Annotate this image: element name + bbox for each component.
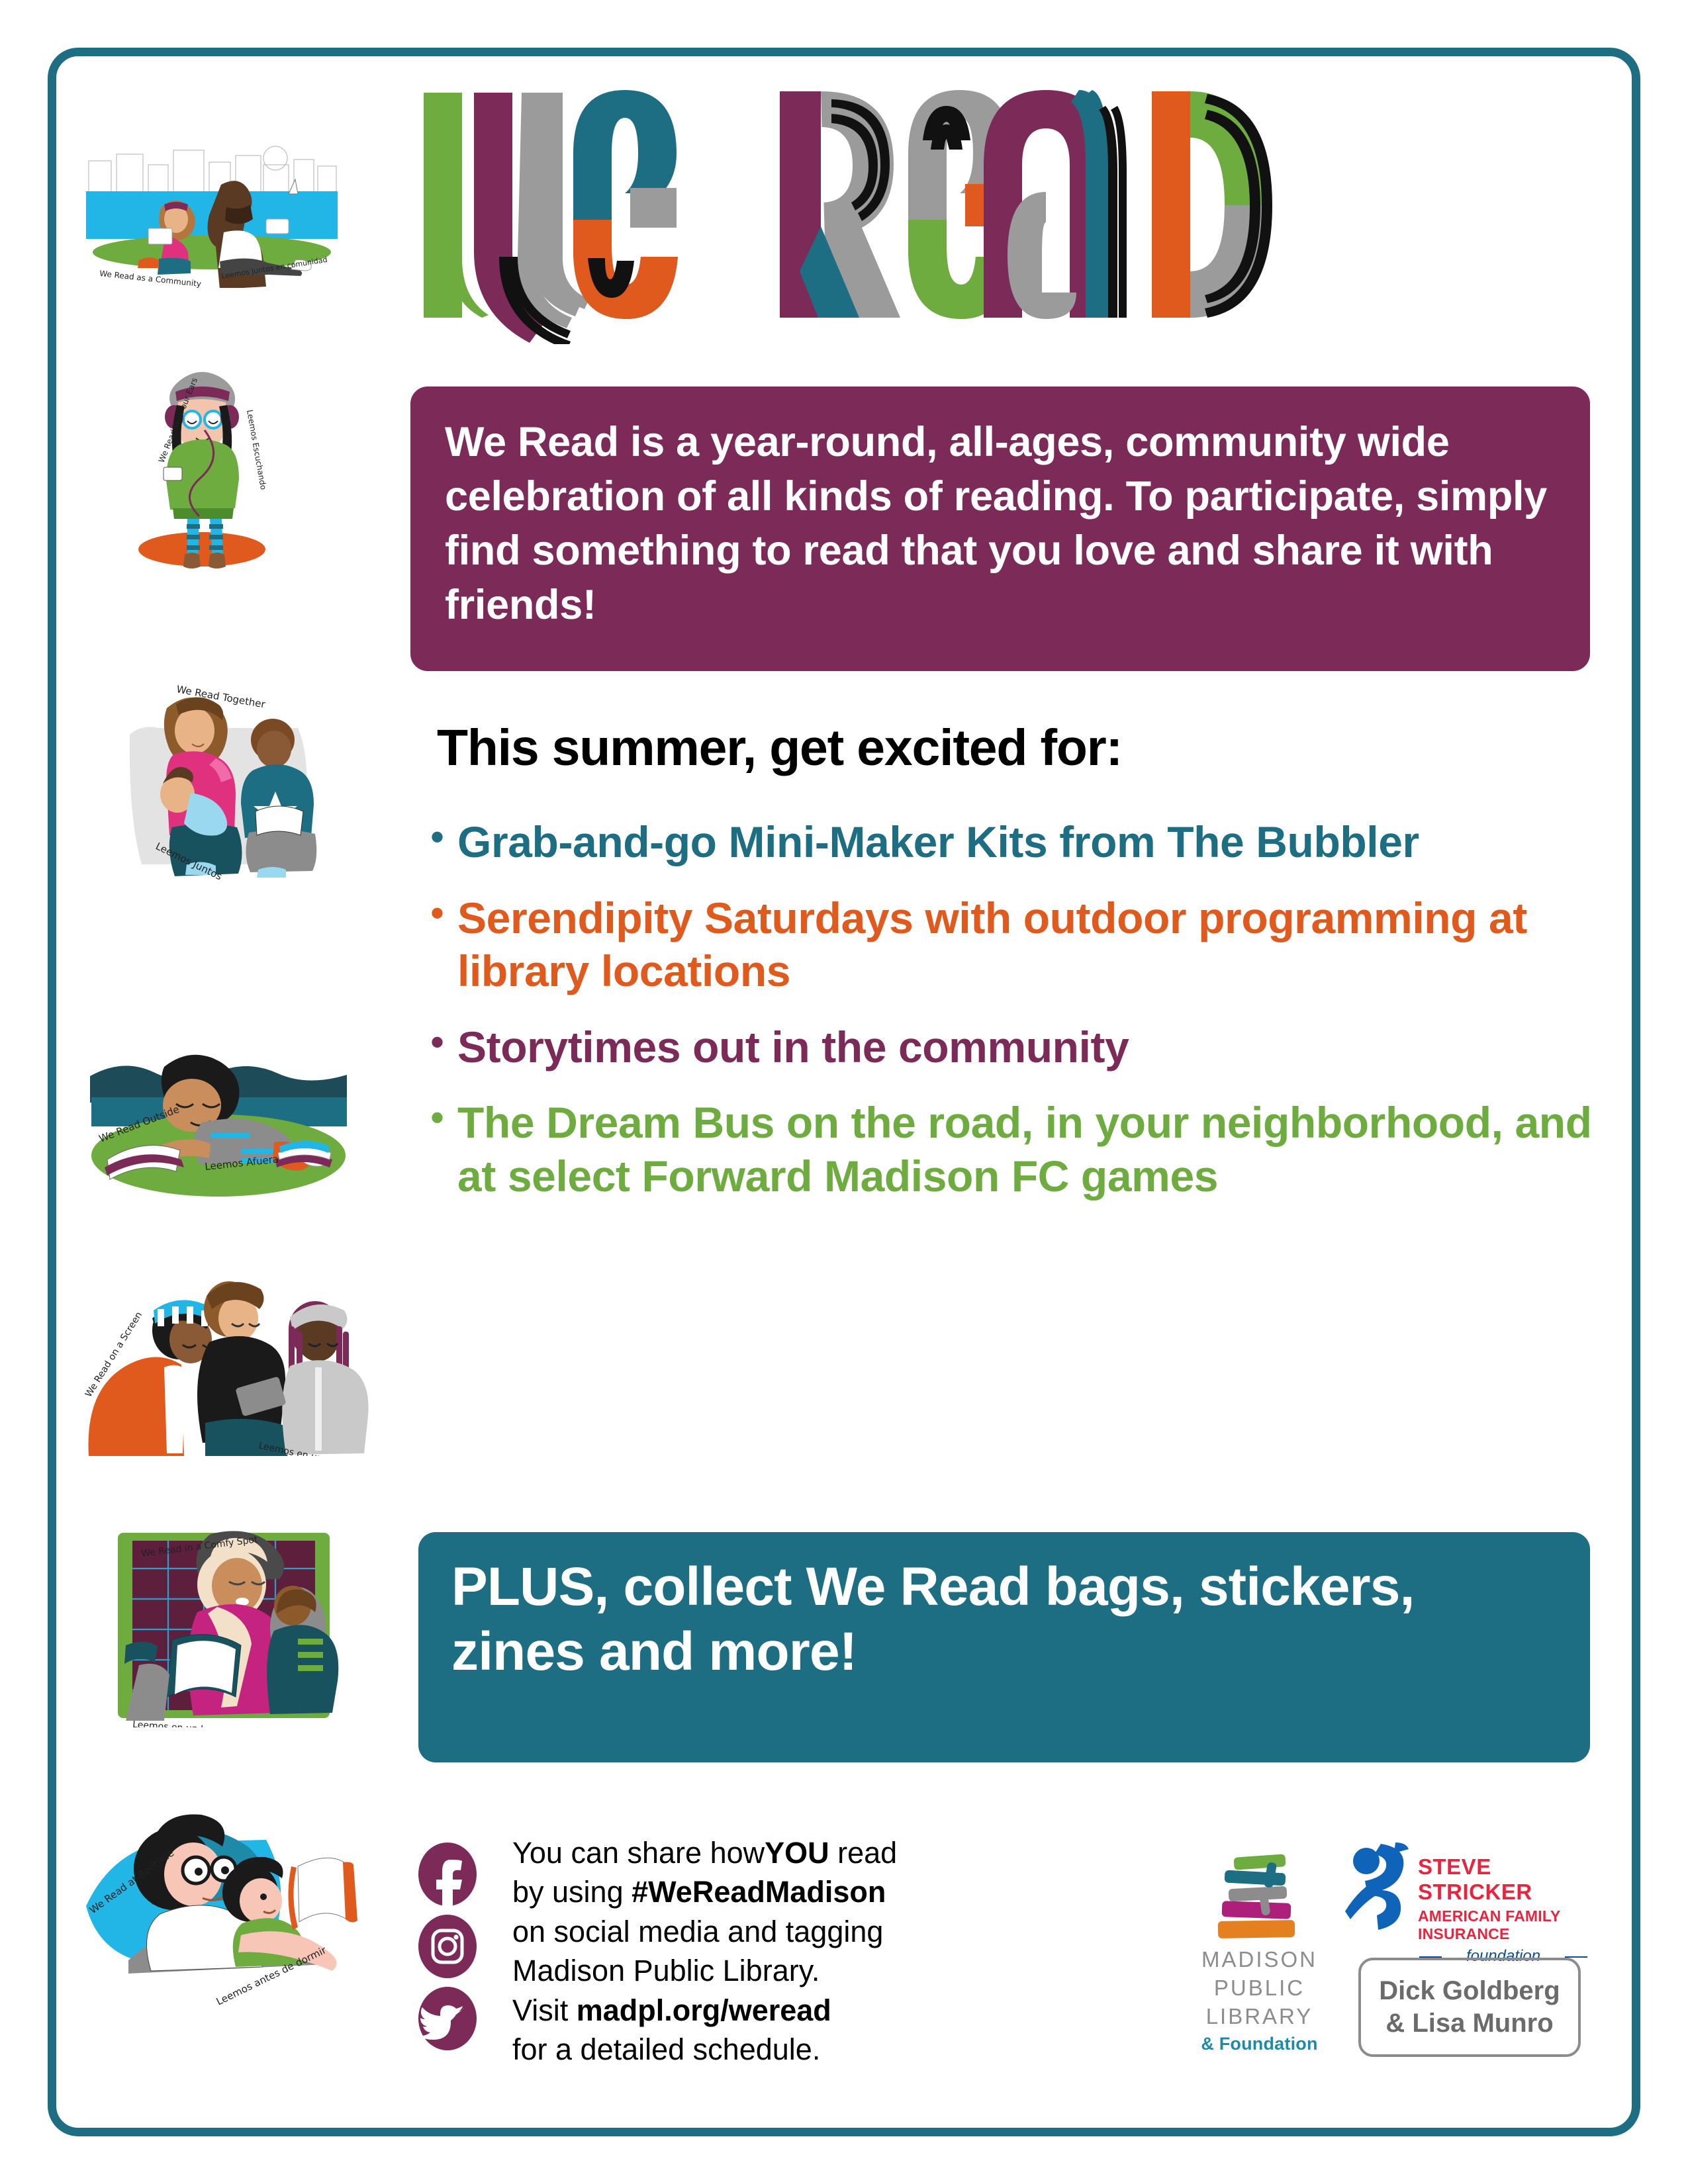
illustration-together: We Read Together Leemos Juntos bbox=[126, 662, 338, 880]
social-line-3: on social media and tagging bbox=[512, 1912, 897, 1951]
donor-credit-text: Dick Goldberg & Lisa Munro bbox=[1379, 1975, 1560, 2040]
bullet-item-bubbler: • Grab-and-go Mini-Maker Kits from The B… bbox=[430, 815, 1595, 869]
illustration-comfy: We Read in a Comfy Spot Leemos en un lug… bbox=[99, 1502, 351, 1727]
social-line-5: Visit madpl.org/weread bbox=[512, 1991, 897, 2030]
donor-credit-box: Dick Goldberg & Lisa Munro bbox=[1358, 1958, 1581, 2057]
svg-text:Leemos en un lugar comodo: Leemos en un lugar comodo bbox=[132, 1719, 265, 1727]
we-read-logotype bbox=[417, 66, 1582, 344]
library-wordmark: MADISON PUBLIC LIBRARY bbox=[1192, 1946, 1327, 2031]
bullet-item-serendipity: • Serendipity Saturdays with outdoor pro… bbox=[430, 891, 1595, 998]
plus-card: PLUS, collect We Read bags, stickers, zi… bbox=[418, 1532, 1590, 1762]
social-icon-list bbox=[417, 1833, 496, 2052]
bullet-dot-icon: • bbox=[430, 891, 444, 932]
bullet-text: The Dream Bus on the road, in your neigh… bbox=[457, 1096, 1595, 1203]
bullet-text: Storytimes out in the community bbox=[457, 1021, 1129, 1074]
bullet-dot-icon: • bbox=[430, 815, 444, 856]
library-foundation-label: & Foundation bbox=[1192, 2034, 1327, 2054]
svg-text:Leemos Escuchando: Leemos Escuchando bbox=[245, 409, 268, 490]
illustration-ears: We Read With our Ears Leemos Escuchando bbox=[103, 351, 301, 576]
madison-public-library-logo: MADISON PUBLIC LIBRARY & Foundation bbox=[1192, 1856, 1327, 2054]
sponsor-logos: MADISON PUBLIC LIBRARY & Foundation STEV… bbox=[1192, 1840, 1589, 2078]
social-line-1: You can share howYOU read bbox=[512, 1833, 897, 1872]
intro-text: We Read is a year-round, all-ages, commu… bbox=[445, 416, 1556, 633]
bullet-text: Serendipity Saturdays with outdoor progr… bbox=[457, 891, 1595, 998]
illustration-outside: We Read Outside Leemos Afuera bbox=[79, 1019, 357, 1205]
bullet-item-dream-bus: • The Dream Bus on the road, in your nei… bbox=[430, 1096, 1595, 1203]
illustration-community: We Read as a Community Leemos juntos en … bbox=[79, 136, 344, 288]
instagram-icon[interactable] bbox=[417, 1913, 478, 1979]
illustration-screen: We Read on a Screen Leemos en una pantal… bbox=[79, 1257, 391, 1456]
bullet-dot-icon: • bbox=[430, 1021, 444, 1061]
bullet-text: Grab-and-go Mini-Maker Kits from The Bub… bbox=[457, 815, 1419, 869]
social-copy: You can share howYOU read by using #WeRe… bbox=[512, 1833, 897, 2069]
social-line-4: Madison Public Library. bbox=[512, 1951, 897, 1990]
bullet-dot-icon: • bbox=[430, 1096, 444, 1136]
social-line-6: for a detailed schedule. bbox=[512, 2030, 897, 2069]
summer-heading: This summer, get excited for: bbox=[437, 719, 1589, 778]
social-block: You can share howYOU read by using #WeRe… bbox=[417, 1833, 897, 2069]
illustration-bedtime: We Read at Bedtime Leemos antes de dormi… bbox=[73, 1794, 364, 2012]
facebook-icon[interactable] bbox=[417, 1841, 478, 1907]
plus-text: PLUS, collect We Read bags, stickers, zi… bbox=[451, 1555, 1557, 1685]
bullet-item-storytimes: • Storytimes out in the community bbox=[430, 1021, 1595, 1074]
stricker-figure-icon bbox=[1344, 1840, 1415, 1933]
twitter-icon[interactable] bbox=[417, 1985, 478, 2052]
stricker-wordmark: STEVE STRICKER AMERICAN FAMILY INSURANCE… bbox=[1418, 1854, 1589, 1966]
intro-card: We Read is a year-round, all-ages, commu… bbox=[410, 387, 1590, 671]
steve-stricker-foundation-logo: STEVE STRICKER AMERICAN FAMILY INSURANCE… bbox=[1344, 1840, 1589, 1939]
summer-bullet-list: • Grab-and-go Mini-Maker Kits from The B… bbox=[430, 815, 1595, 1225]
library-books-mark-icon bbox=[1210, 1856, 1309, 1940]
social-line-2: by using #WeReadMadison bbox=[512, 1872, 897, 1911]
